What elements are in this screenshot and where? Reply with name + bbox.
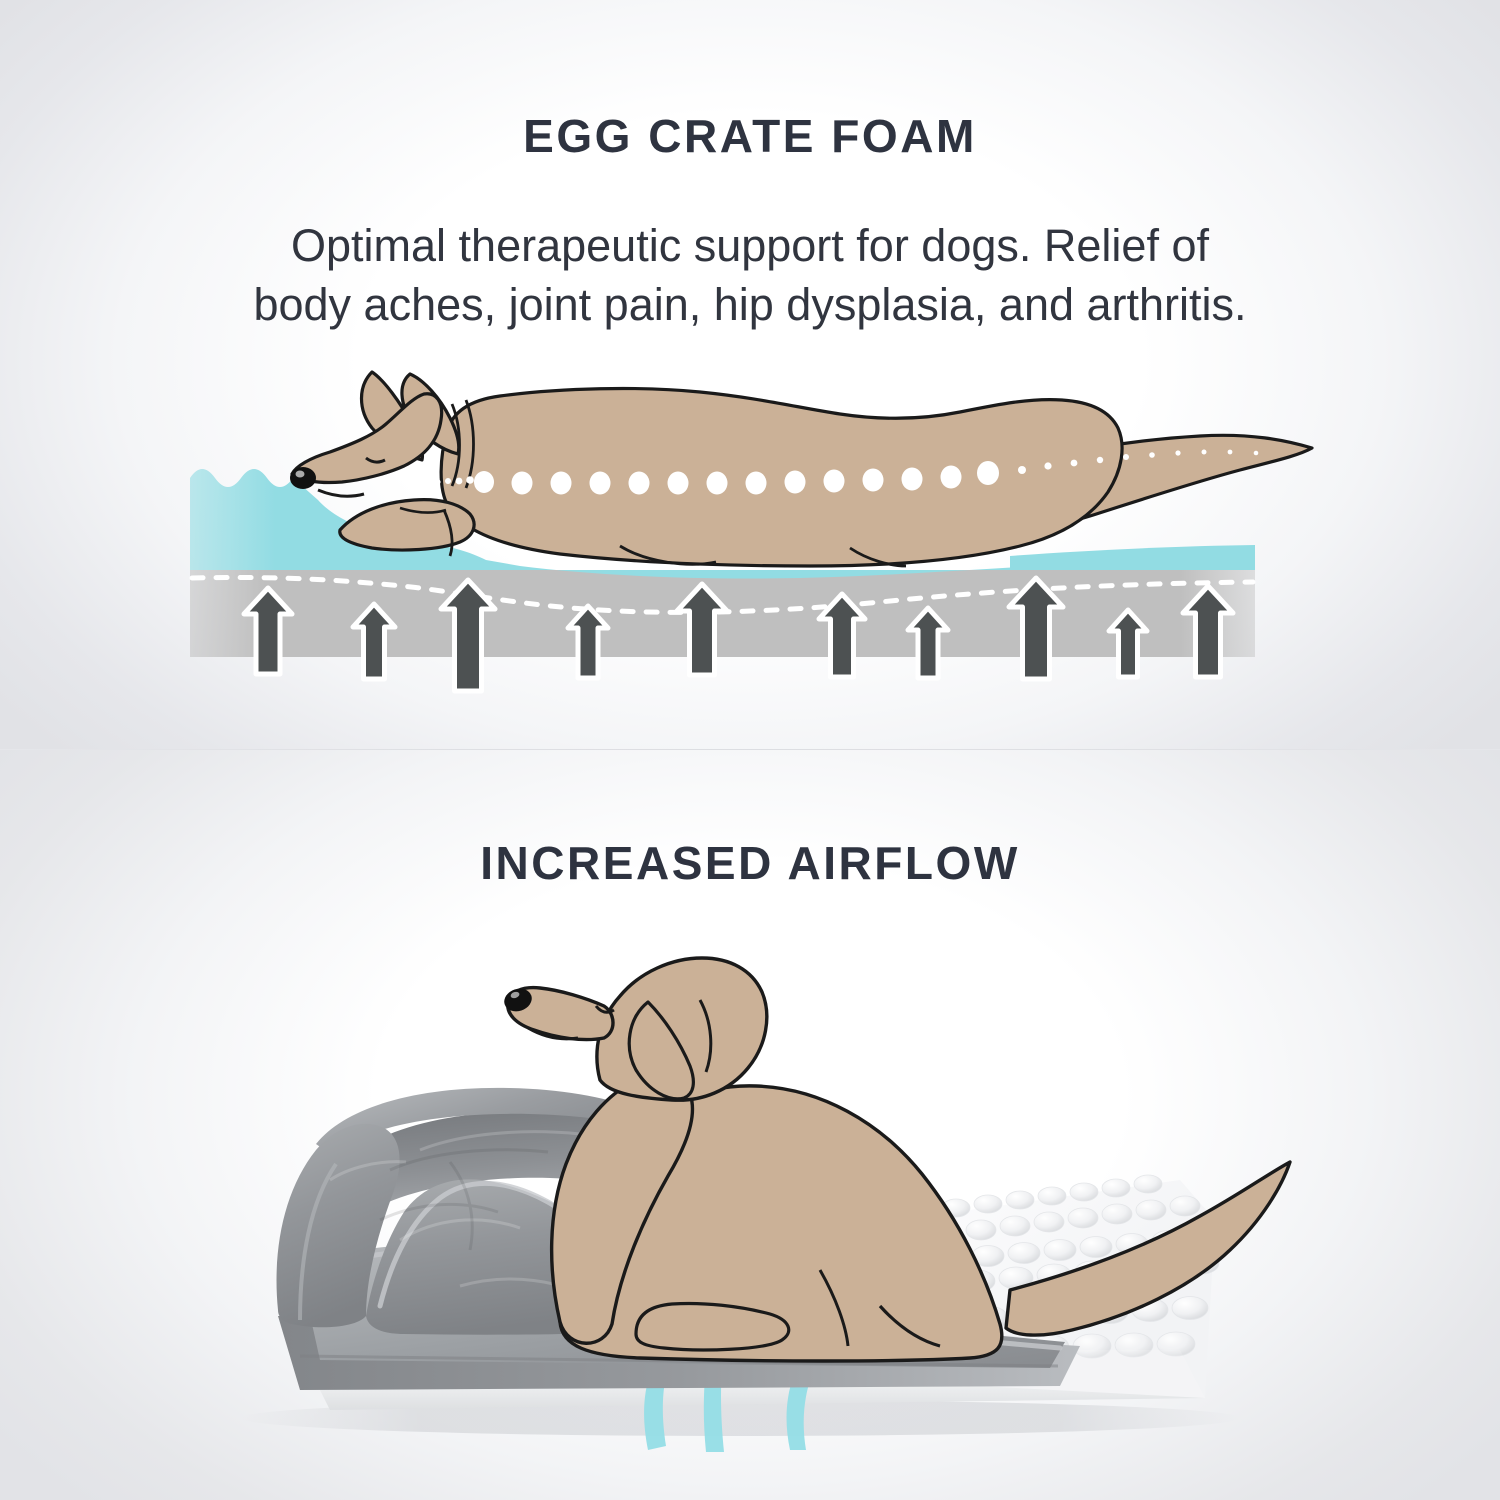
dog-nose [290, 467, 316, 489]
infographic-page: EGG CRATE FOAM Optimal therapeutic suppo… [0, 0, 1500, 1500]
panel-increased-airflow: INCREASED AIRFLOW [0, 750, 1500, 1500]
illustration-dog-on-foam-cross-section [0, 0, 1500, 750]
panel-egg-crate-foam: EGG CRATE FOAM Optimal therapeutic suppo… [0, 0, 1500, 750]
illustration-dog-on-bolster-bed [0, 750, 1500, 1500]
dog-silhouette-lying [290, 372, 1312, 566]
